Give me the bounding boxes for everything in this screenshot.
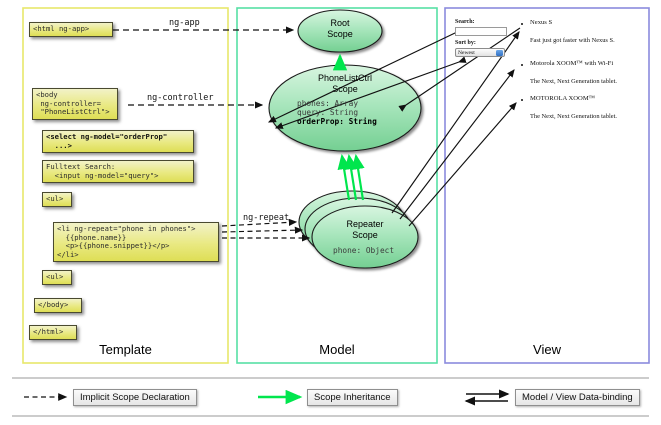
ng-controller-label: ng-controller <box>147 93 214 103</box>
angularjs-scope-diagram: <html ng-app> <body ng-controller= "Phon… <box>0 0 661 425</box>
view-sort-selected-value: Newest <box>458 50 475 56</box>
scope-prop-orderprop: orderProp: String <box>297 118 417 127</box>
ul-close-box: <ul> <box>42 270 72 285</box>
panel-label-view: View <box>445 342 649 357</box>
panel-label-template: Template <box>23 342 228 357</box>
view-sort-label: Sort by: <box>455 40 476 46</box>
legend-data-binding: Model / View Data-binding <box>515 389 640 406</box>
view-phone-name-3[interactable]: MOTOROLA XOOM™ <box>530 95 595 102</box>
html-tag-box: <html ng-app> <box>29 22 113 37</box>
repeater-scope-title-line1: Repeater <box>315 219 415 230</box>
view-phone-snippet-1: Fast just got faster with Nexus S. <box>530 37 615 44</box>
select-tag-box: <select ng-model="orderProp" ...> <box>42 130 194 153</box>
repeater-scope-prop-phone: phone: Object <box>333 247 433 256</box>
root-scope-title-line1: Root <box>300 18 380 29</box>
list-bullet-icon <box>521 64 523 66</box>
view-phone-snippet-3: The Next, Next Generation tablet. <box>530 113 617 120</box>
diagram-text-layer: <html ng-app> <body ng-controller= "Phon… <box>0 0 661 425</box>
ng-repeat-label: ng-repeat <box>243 213 289 223</box>
panel-label-model: Model <box>237 342 437 357</box>
view-search-input[interactable] <box>455 27 507 36</box>
legend-scope-inheritance: Scope Inheritance <box>307 389 398 406</box>
view-sort-select[interactable]: Newest <box>455 48 505 57</box>
html-close-box: </html> <box>29 325 77 340</box>
repeater-scope-title-line2: Scope <box>315 230 415 241</box>
list-bullet-icon <box>521 23 523 25</box>
ng-app-label: ng-app <box>169 18 200 28</box>
view-phone-snippet-2: The Next, Next Generation tablet. <box>530 78 617 85</box>
chevron-down-icon <box>496 50 503 56</box>
phonelistctrl-scope-title-line1: PhoneListCtrl <box>285 73 405 84</box>
ul-open-box: <ul> <box>42 192 72 207</box>
legend-implicit-scope-declaration: Implicit Scope Declaration <box>73 389 197 406</box>
view-search-label: Search: <box>455 19 475 25</box>
phonelistctrl-scope-props: phones: Array query: String orderProp: S… <box>297 100 417 126</box>
list-bullet-icon <box>521 99 523 101</box>
root-scope-title-line2: Scope <box>300 29 380 40</box>
phonelistctrl-scope-title-line2: Scope <box>285 84 405 95</box>
search-input-box: Fulltext Search: <input ng-model="query"… <box>42 160 194 183</box>
view-phone-name-2[interactable]: Motorola XOOM™ with Wi-Fi <box>530 60 613 67</box>
body-tag-box: <body ng-controller= "PhoneListCtrl"> <box>32 88 118 120</box>
view-phone-name-1[interactable]: Nexus S <box>530 19 552 26</box>
body-close-box: </body> <box>34 298 82 313</box>
li-repeat-box: <li ng-repeat="phone in phones"> {{phone… <box>53 222 219 262</box>
